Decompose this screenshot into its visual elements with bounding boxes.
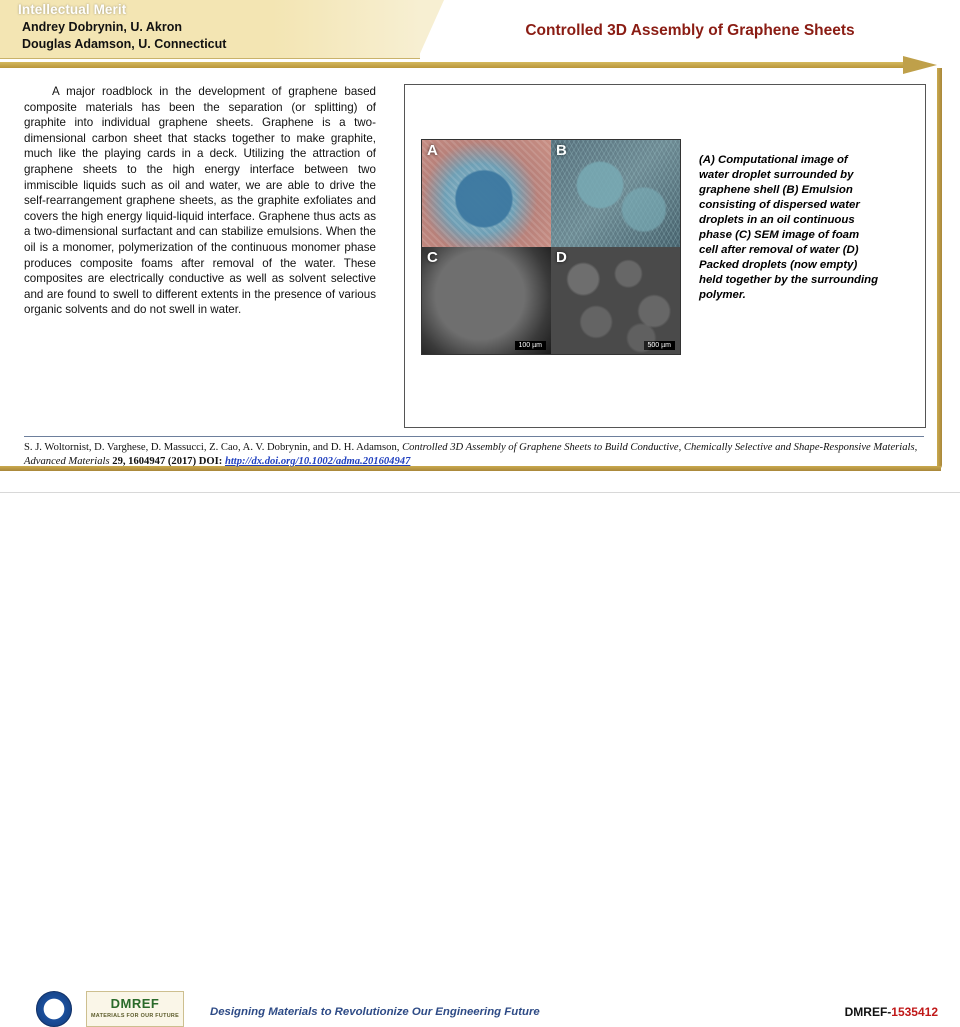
figure-quadrant-a: A [422,140,551,247]
right-gold-border [937,68,942,470]
award-number: 1535412 [891,1005,938,1019]
panel-letter-c: C [427,249,438,266]
citation-authors: S. J. Woltornist, D. Varghese, D. Massuc… [24,442,402,453]
page-title: Controlled 3D Assembly of Graphene Sheet… [430,22,950,40]
citation: S. J. Woltornist, D. Varghese, D. Massuc… [24,436,924,469]
dmref-logo-sublabel: MATERIALS FOR OUR FUTURE [87,1013,183,1019]
header-gold-rule [0,62,905,68]
intellectual-merit-label: Intellectual Merit [18,2,126,17]
pi-name-line-1: Andrey Dobrynin, U. Akron [22,20,182,34]
figure-quadrant-b: B [551,140,680,247]
panel-letter-b: B [556,142,567,159]
pi-name-line-2: Douglas Adamson, U. Connecticut [22,37,226,51]
scalebar-label-d: 500 µm [644,341,676,350]
body-paragraph-text: A major roadblock in the development of … [24,85,376,316]
nsf-logo-label: NSF [37,1003,71,1012]
figure-image: A B C 100 µm D 500 µm [421,139,681,355]
figure-quadrant-d: D 500 µm [551,247,680,354]
citation-volume-page-year: 29, 1604947 (2017) DOI: [112,456,225,467]
dmref-logo-label: DMREF [87,996,183,1011]
panel-letter-a: A [427,142,438,159]
body-paragraph: A major roadblock in the development of … [24,84,376,318]
panel-letter-d: D [556,249,567,266]
nsf-logo-icon: NSF [36,991,72,1027]
footer-tagline: Designing Materials to Revolutionize Our… [210,1006,540,1018]
figure-caption: (A) Computational image of water droplet… [699,153,879,303]
award-prefix: DMREF- [845,1005,892,1019]
scalebar-label-c: 100 µm [515,341,547,350]
slide-footer: NSF DMREF MATERIALS FOR OUR FUTURE Desig… [0,492,960,541]
header-gold-arrow-icon [903,56,937,74]
slide-header: Intellectual Merit Andrey Dobrynin, U. A… [0,0,960,70]
doi-link[interactable]: http://dx.doi.org/10.1002/adma.201604947 [225,456,410,467]
award-number-label: DMREF-1535412 [845,1005,938,1019]
dmref-logo: DMREF MATERIALS FOR OUR FUTURE [86,991,184,1027]
figure-quadrant-c: C 100 µm [422,247,551,354]
figure-panel: A B C 100 µm D 500 µm (A) Computational … [404,84,926,428]
